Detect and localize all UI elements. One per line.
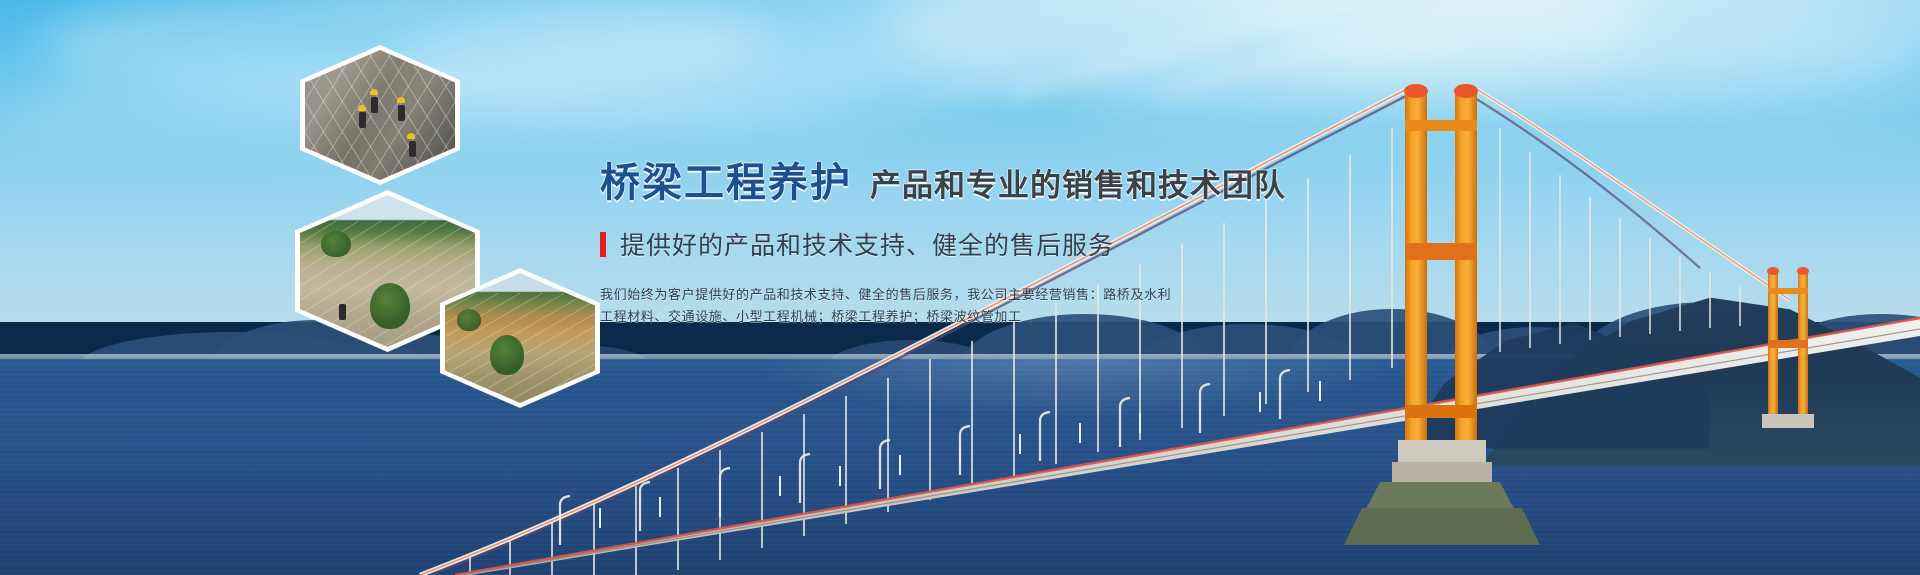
water-glare — [691, 359, 1459, 445]
body-paragraph: 我们始终为客户提供好的产品和技术支持、健全的售后服务，我公司主要经营销售：路桥及… — [600, 284, 1300, 328]
hex-photo-rockfall-netting-workers — [300, 45, 460, 185]
body-line-2: 工程材料、交通设施、小型工程机械；桥梁工程养护；桥梁波纹管加工 — [600, 306, 1300, 328]
headline-sub: 产品和专业的销售和技术团队 — [870, 160, 1286, 205]
body-line-1: 我们始终为客户提供好的产品和技术支持、健全的售后服务，我公司主要经营销售：路桥及… — [600, 284, 1300, 306]
hero-banner: 桥梁工程养护 产品和专业的销售和技术团队 提供好的产品和技术支持、健全的售后服务… — [0, 0, 1920, 575]
subline-text: 提供好的产品和技术支持、健全的售后服务 — [620, 226, 1114, 262]
headline-main: 桥梁工程养护 — [600, 150, 852, 208]
banner-copy: 桥梁工程养护 产品和专业的销售和技术团队 提供好的产品和技术支持、健全的售后服务… — [600, 150, 1300, 328]
subline-row: 提供好的产品和技术支持、健全的售后服务 — [600, 226, 1300, 262]
headline-row: 桥梁工程养护 产品和专业的销售和技术团队 — [600, 150, 1300, 208]
accent-bar-icon — [600, 232, 606, 257]
hex-photo-hillside-netting-site — [440, 268, 600, 408]
